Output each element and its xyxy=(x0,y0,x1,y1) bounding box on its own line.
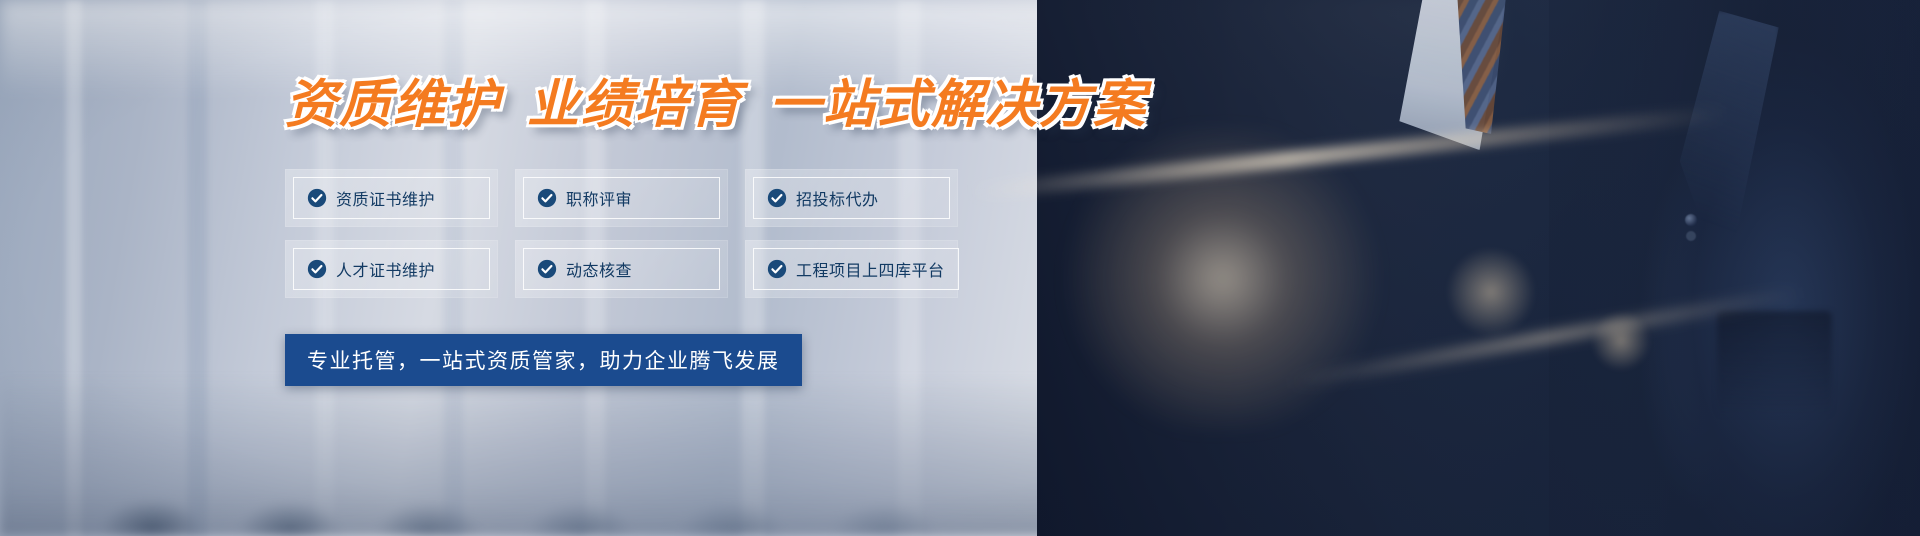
feature-label: 职称评审 xyxy=(566,186,632,210)
banner-tagline: 专业托管，一站式资质管家，助力企业腾飞发展 xyxy=(285,334,802,386)
check-circle-icon xyxy=(537,188,557,208)
check-circle-icon xyxy=(537,259,557,279)
feature-label: 招投标代办 xyxy=(796,186,879,210)
feature-label: 资质证书维护 xyxy=(336,186,435,210)
headline-part-1: 资质维护 xyxy=(285,76,501,134)
banner-headline: 资质维护业绩培育一站式解决方案 xyxy=(285,62,1045,137)
feature-label: 动态核查 xyxy=(566,257,632,281)
headline-part-2: 业绩培育 xyxy=(527,76,743,134)
feature-label: 工程项目上四库平台 xyxy=(796,257,945,281)
feature-label: 人才证书维护 xyxy=(336,257,435,281)
hero-banner: 资质维护业绩培育一站式解决方案 资质证书维护 xyxy=(0,0,1920,536)
check-circle-icon xyxy=(307,188,327,208)
check-circle-icon xyxy=(767,259,787,279)
feature-item-qualification-certificate[interactable]: 资质证书维护 xyxy=(285,169,498,227)
feature-item-dynamic-inspection[interactable]: 动态核查 xyxy=(515,240,728,298)
feature-item-talent-certificate[interactable]: 人才证书维护 xyxy=(285,240,498,298)
check-circle-icon xyxy=(307,259,327,279)
banner-content: 资质维护业绩培育一站式解决方案 资质证书维护 xyxy=(285,62,1045,386)
check-circle-icon xyxy=(767,188,787,208)
suit-pocket xyxy=(1717,311,1832,418)
feature-item-title-evaluation[interactable]: 职称评审 xyxy=(515,169,728,227)
feature-item-bidding-agency[interactable]: 招投标代办 xyxy=(745,169,958,227)
headline-part-3: 一站式解决方案 xyxy=(769,76,1147,134)
feature-item-four-database-platform[interactable]: 工程项目上四库平台 xyxy=(745,240,958,298)
feature-grid: 资质证书维护 职称评审 招投标代办 xyxy=(285,169,1045,298)
